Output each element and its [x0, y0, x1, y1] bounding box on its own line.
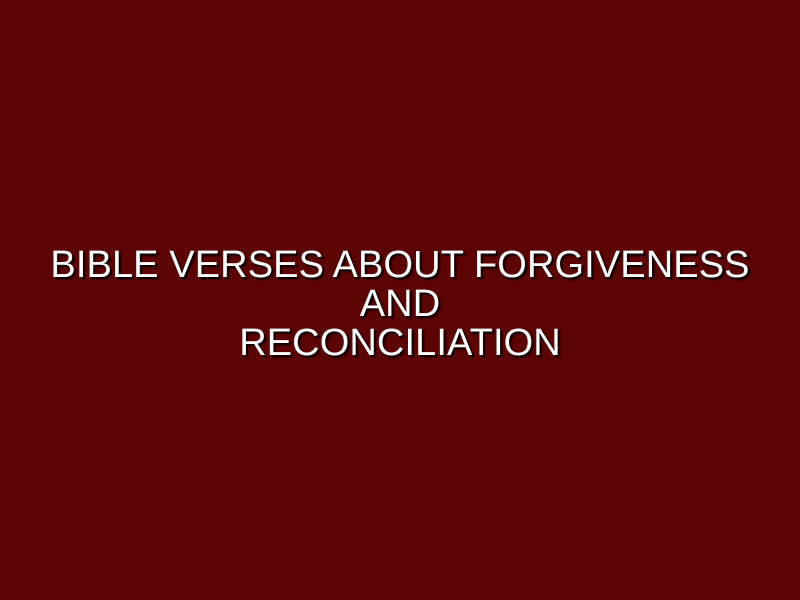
- page-title: BIBLE VERSES ABOUT FORGIVENESS AND RECON…: [40, 246, 760, 363]
- title-card-banner: BIBLE VERSES ABOUT FORGIVENESS AND RECON…: [0, 0, 800, 600]
- title-block: BIBLE VERSES ABOUT FORGIVENESS AND RECON…: [40, 246, 760, 363]
